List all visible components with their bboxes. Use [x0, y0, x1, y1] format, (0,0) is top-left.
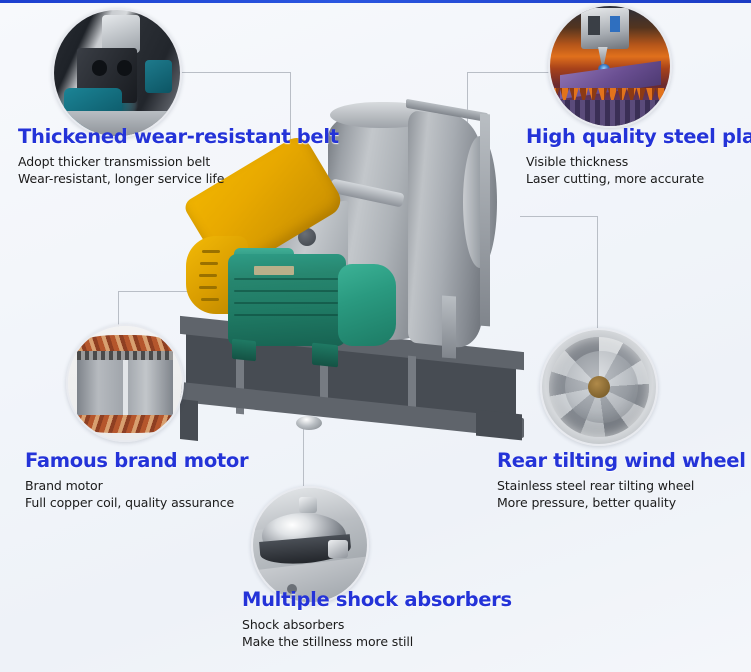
connector-line-belt-horizontal — [172, 72, 290, 73]
motor-foot-left — [232, 339, 256, 362]
callout-line-2: Laser cutting, more accurate — [526, 171, 704, 186]
belt-guard-louver-2 — [200, 262, 218, 265]
callout-line-2: Full copper coil, quality assurance — [25, 495, 234, 510]
frame-skid-left — [180, 399, 198, 441]
callout-high-quality-steel-plate: High quality steel plate Visible thickne… — [526, 126, 751, 187]
callout-rear-tilting-wind-wheel: Rear tilting wind wheel Stainless steel … — [497, 450, 746, 511]
shock-absorber-on-frame — [296, 416, 322, 430]
laser-cutting-photo — [550, 6, 670, 126]
callout-title: Rear tilting wind wheel — [497, 450, 746, 471]
callout-line-2: More pressure, better quality — [497, 495, 676, 510]
callout-diagram: Thickened wear-resistant belt Adopt thic… — [0, 0, 751, 672]
motor-cooling-fin-2 — [234, 290, 338, 292]
callout-description: Brand motor Full copper coil, quality as… — [25, 478, 248, 511]
top-accent-bar — [0, 0, 751, 3]
callout-multiple-shock-absorbers: Multiple shock absorbers Shock absorbers… — [242, 589, 512, 650]
callout-description: Adopt thicker transmission belt Wear-res… — [18, 154, 339, 187]
callout-line-2: Wear-resistant, longer service life — [18, 171, 224, 186]
wind-wheel-photo — [542, 330, 656, 444]
callout-title: High quality steel plate — [526, 126, 751, 147]
thumb-motor-stator-photo[interactable] — [66, 324, 184, 442]
callout-line-1: Brand motor — [25, 478, 103, 493]
belt-guard-louver-3 — [199, 274, 217, 277]
connector-line-steel-horizontal — [467, 72, 559, 73]
motor-nameplate — [254, 266, 294, 275]
callout-title: Thickened wear-resistant belt — [18, 126, 339, 147]
callout-description: Visible thickness Laser cutting, more ac… — [526, 154, 751, 187]
thumb-belt-drive-photo[interactable] — [52, 8, 182, 138]
motor-cooling-fin-3 — [234, 302, 338, 304]
motor-foot-right — [312, 343, 338, 368]
motor-cooling-fin-1 — [234, 278, 338, 280]
thumb-wind-wheel-photo[interactable] — [540, 328, 658, 446]
belt-guard-louver-4 — [199, 286, 217, 289]
housing-flange-right — [480, 114, 490, 327]
callout-famous-brand-motor: Famous brand motor Brand motor Full copp… — [25, 450, 248, 511]
callout-line-1: Shock absorbers — [242, 617, 344, 632]
callout-line-1: Stainless steel rear tilting wheel — [497, 478, 694, 493]
callout-title: Multiple shock absorbers — [242, 589, 512, 610]
motor-cooling-fin-4 — [234, 314, 338, 316]
callout-description: Shock absorbers Make the stillness more … — [242, 617, 512, 650]
housing-support-leg — [442, 296, 456, 359]
connector-line-wheel-vertical — [597, 216, 598, 328]
belt-guard-louver-1 — [202, 250, 220, 253]
thumb-shock-absorber-photo[interactable] — [251, 486, 369, 604]
shock-absorber-photo — [253, 488, 367, 602]
motor-stator-photo — [68, 326, 182, 440]
motor-fan-cover — [338, 264, 396, 346]
callout-description: Stainless steel rear tilting wheel More … — [497, 478, 746, 511]
callout-line-2: Make the stillness more still — [242, 634, 413, 649]
callout-title: Famous brand motor — [25, 450, 248, 471]
callout-thickened-wear-resistant-belt: Thickened wear-resistant belt Adopt thic… — [18, 126, 339, 187]
thumb-laser-cutting-photo[interactable] — [548, 4, 672, 128]
frame-skid-right — [476, 410, 522, 441]
belt-guard-louver-5 — [201, 298, 219, 301]
callout-line-1: Adopt thicker transmission belt — [18, 154, 210, 169]
callout-line-1: Visible thickness — [526, 154, 628, 169]
belt-drive-photo — [54, 10, 180, 136]
